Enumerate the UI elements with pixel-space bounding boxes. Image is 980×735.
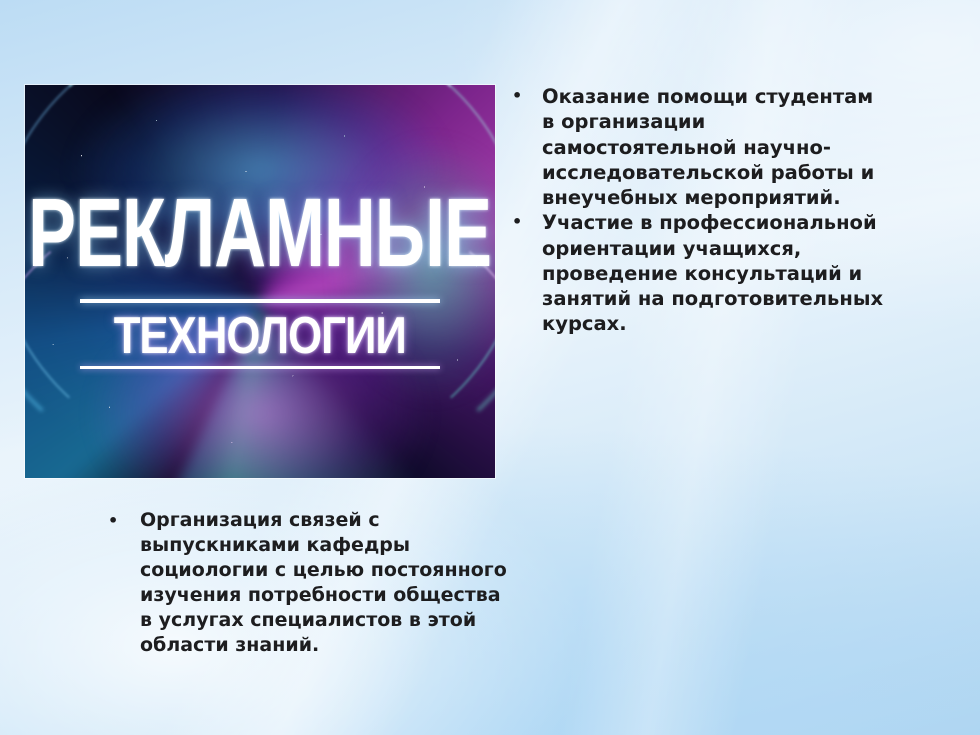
- image-lettering: РЕКЛАМНЫЕ ТЕХНОЛОГИИ: [25, 85, 495, 478]
- image-title-text: РЕКЛАМНЫЕ: [29, 190, 492, 276]
- image-subtitle-text: ТЕХНОЛОГИИ: [114, 309, 406, 361]
- advertising-technologies-image[interactable]: РЕКЛАМНЫЕ ТЕХНОЛОГИИ: [25, 85, 495, 478]
- list-item[interactable]: • Участие в профессиональной ориентации …: [512, 210, 884, 336]
- bullet-text: Участие в профессиональной ориентации уч…: [542, 210, 884, 336]
- slide-canvas: РЕКЛАМНЫЕ ТЕХНОЛОГИИ • Оказание помощи с…: [0, 0, 980, 735]
- image-divider-rule-2: [80, 366, 440, 369]
- image-divider-rule: [80, 299, 440, 303]
- list-item[interactable]: • Оказание помощи студентам в организаци…: [512, 84, 884, 210]
- list-item[interactable]: • Организация связей с выпускниками кафе…: [108, 508, 518, 658]
- bullet-text: Оказание помощи студентам в организации …: [542, 84, 884, 210]
- right-bullet-list: • Оказание помощи студентам в организаци…: [512, 84, 884, 337]
- bullet-text: Организация связей с выпускниками кафедр…: [140, 508, 518, 658]
- bottom-bullet-list: • Организация связей с выпускниками кафе…: [108, 508, 518, 658]
- bullet-dot-icon: •: [512, 210, 542, 235]
- bullet-dot-icon: •: [512, 84, 542, 109]
- bullet-dot-icon: •: [108, 508, 140, 533]
